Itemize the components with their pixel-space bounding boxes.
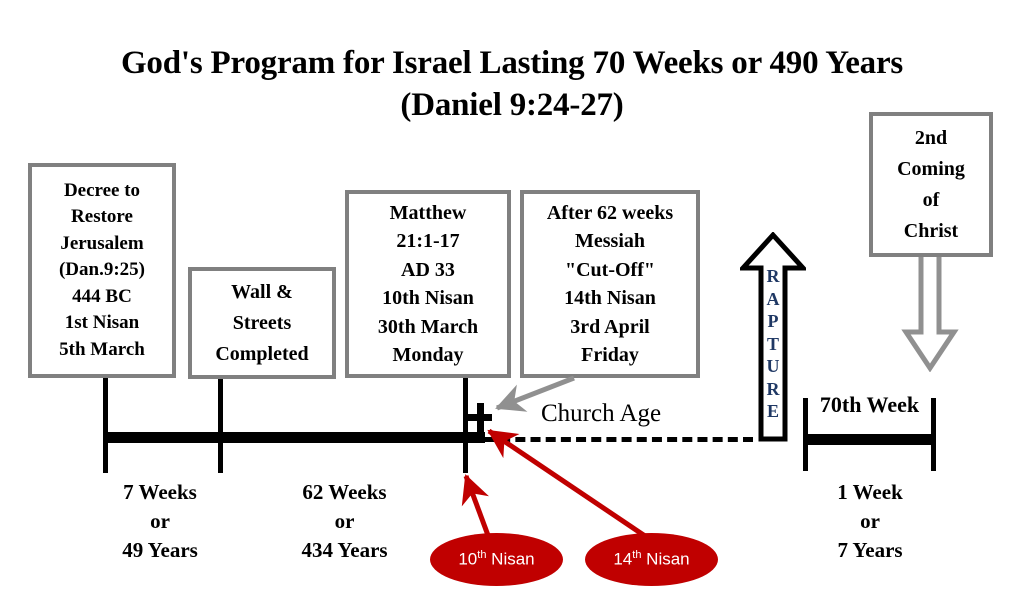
cross-horizontal	[468, 414, 492, 421]
marker-14th-nisan[interactable]: 14th Nisan	[585, 533, 718, 586]
matthew-line-0: Matthew	[390, 199, 467, 228]
matthew-line-4: 30th March	[378, 313, 478, 342]
wall-line-1: Streets	[233, 308, 292, 339]
callout-second-coming-of-christ[interactable]: 2nd Coming of Christ	[869, 112, 993, 257]
matthew-line-5: Monday	[392, 341, 463, 370]
red-arrow-10th-nisan	[466, 476, 489, 538]
wall-line-0: Wall &	[231, 277, 293, 308]
rapture-arrow: R A P T U R E	[740, 232, 806, 442]
cross-icon	[468, 403, 492, 441]
second-coming-line-3: Christ	[904, 216, 958, 247]
matthew-line-2: AD 33	[401, 256, 455, 285]
marker-14th-nisan-text: 14th Nisan	[613, 549, 689, 570]
tick-wall	[218, 395, 223, 473]
second-coming-line-0: 2nd	[915, 123, 947, 154]
timeline-bar-69-weeks	[103, 432, 485, 443]
rapture-letter-4: U	[740, 355, 806, 378]
period-label-62-weeks: 62 Weeks or 434 Years	[272, 478, 417, 565]
rapture-letter-2: P	[740, 310, 806, 333]
period-1-years: 7 Years	[800, 536, 940, 565]
period-7-conj: or	[90, 507, 230, 536]
period-1-conj: or	[800, 507, 940, 536]
tick-decree	[103, 395, 108, 473]
church-age-dashed-line	[485, 437, 753, 442]
decree-line-4: 444 BC	[72, 284, 132, 311]
second-coming-line-1: Coming	[897, 154, 965, 185]
rapture-letter-5: R	[740, 378, 806, 401]
rapture-letter-6: E	[740, 400, 806, 423]
timeline-bar-70th-week	[803, 434, 936, 445]
callout-decree-to-restore-jerusalem[interactable]: Decree to Restore Jerusalem (Dan.9:25) 4…	[28, 163, 176, 378]
cross-vertical	[477, 403, 484, 441]
period-7-years: 49 Years	[90, 536, 230, 565]
rapture-letter-0: R	[740, 265, 806, 288]
rapture-letter-3: T	[740, 333, 806, 356]
period-62-conj: or	[272, 507, 417, 536]
period-1-count: 1 Week	[800, 478, 940, 507]
callout-wall-and-streets-completed[interactable]: Wall & Streets Completed	[188, 267, 336, 379]
marker-10th-nisan[interactable]: 10th Nisan	[430, 533, 563, 586]
decree-line-2: Jerusalem	[60, 231, 143, 258]
decree-line-0: Decree to	[64, 178, 140, 205]
second-coming-arrow-shape	[898, 252, 962, 372]
red-arrow-14th-nisan	[489, 431, 648, 538]
after62-line-1: Messiah	[575, 227, 645, 256]
period-62-count: 62 Weeks	[272, 478, 417, 507]
title-line-1: God's Program for Israel Lasting 70 Week…	[121, 45, 903, 81]
after62-line-5: Friday	[581, 341, 639, 370]
after62-line-0: After 62 weeks	[547, 199, 673, 228]
rapture-letter-1: A	[740, 288, 806, 311]
after62-line-4: 3rd April	[570, 313, 649, 342]
after62-line-3: 14th Nisan	[564, 284, 656, 313]
second-coming-arrow	[898, 252, 962, 372]
period-62-years: 434 Years	[272, 536, 417, 565]
second-coming-line-2: of	[923, 185, 940, 216]
seventieth-week-label: 70th Week	[803, 392, 936, 418]
decree-line-3: (Dan.9:25)	[59, 257, 145, 284]
period-label-7-weeks: 7 Weeks or 49 Years	[90, 478, 230, 565]
church-age-label: Church Age	[541, 400, 661, 428]
matthew-line-3: 10th Nisan	[382, 284, 474, 313]
after62-line-2: "Cut-Off"	[565, 256, 655, 285]
diagram-canvas: God's Program for Israel Lasting 70 Week…	[0, 0, 1024, 615]
decree-line-1: Restore	[71, 204, 133, 231]
wall-line-2: Completed	[215, 339, 308, 370]
callout-after-62-weeks-messiah-cut-off[interactable]: After 62 weeks Messiah "Cut-Off" 14th Ni…	[520, 190, 700, 378]
decree-line-5: 1st Nisan	[65, 310, 139, 337]
period-7-count: 7 Weeks	[90, 478, 230, 507]
period-label-1-week: 1 Week or 7 Years	[800, 478, 940, 565]
callout-matthew-triumphal-entry[interactable]: Matthew 21:1-17 AD 33 10th Nisan 30th Ma…	[345, 190, 511, 378]
matthew-line-1: 21:1-17	[396, 227, 459, 256]
decree-line-6: 5th March	[59, 337, 145, 364]
rapture-label: R A P T U R E	[740, 265, 806, 423]
marker-10th-nisan-text: 10th Nisan	[458, 549, 534, 570]
